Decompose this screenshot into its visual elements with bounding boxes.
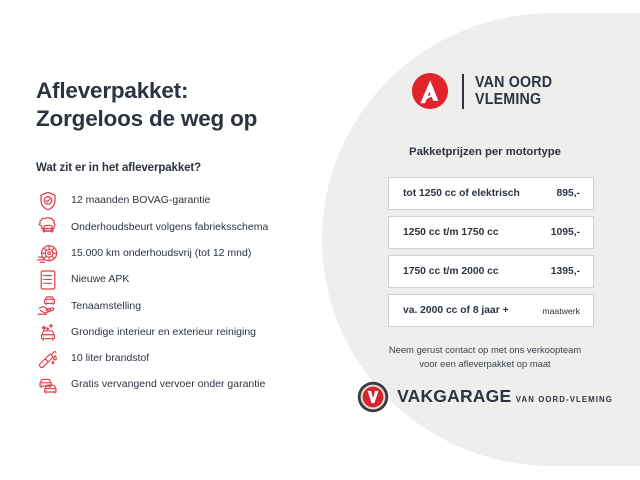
brand-name-line2: VLEMING bbox=[475, 91, 552, 108]
page-title: Afleverpakket: Zorgeloos de weg op bbox=[36, 77, 316, 133]
price-row-label: 1750 cc t/m 2000 cc bbox=[403, 266, 499, 277]
price-row-label: 1250 cc t/m 1750 cc bbox=[403, 227, 499, 238]
table-row[interactable]: va. 2000 cc of 8 jaar + maatwerk bbox=[388, 294, 594, 327]
table-row[interactable]: 1750 cc t/m 2000 cc 1395,- bbox=[388, 255, 594, 288]
price-row-label: va. 2000 cc of 8 jaar + bbox=[403, 305, 509, 316]
left-column: Afleverpakket: Zorgeloos de weg op Wat z… bbox=[0, 0, 330, 480]
vakgarage-lockup: VAKGARAGE VAN OORD-VLEMING bbox=[330, 381, 640, 413]
brand-lockup: VAN OORD VLEMING bbox=[330, 72, 640, 110]
list-item-label: Gratis vervangend vervoer onder garantie bbox=[71, 379, 265, 391]
van-oord-a-logo-icon bbox=[411, 72, 449, 110]
list-item: Onderhoudsbeurt volgens fabrieksschema bbox=[36, 214, 326, 240]
list-item: Grondige interieur en exterieur reinigin… bbox=[36, 319, 326, 345]
brand-divider bbox=[462, 74, 464, 109]
list-item: 12 maanden BOVAG-garantie bbox=[36, 188, 326, 214]
brand-name-line1: VAN OORD bbox=[475, 74, 552, 91]
poster-canvas: Afleverpakket: Zorgeloos de weg op Wat z… bbox=[0, 0, 640, 480]
list-item: 15.000 km onderhoudsvrij (tot 12 mnd) bbox=[36, 241, 326, 267]
feature-list-heading: Wat zit er in het afleverpakket? bbox=[36, 162, 201, 174]
list-item-label: 15.000 km onderhoudsvrij (tot 12 mnd) bbox=[71, 248, 251, 260]
price-row-value: 895,- bbox=[557, 188, 580, 199]
fuel-nozzle-icon bbox=[36, 347, 60, 371]
hand-car-icon bbox=[36, 294, 60, 318]
price-row-value: 1095,- bbox=[551, 227, 580, 238]
vakgarage-subname: VAN OORD-VLEMING bbox=[516, 395, 613, 404]
page-title-line1: Afleverpakket: bbox=[36, 78, 188, 103]
list-item-label: 10 liter brandstof bbox=[71, 353, 149, 365]
wheel-icon bbox=[36, 242, 60, 266]
table-row[interactable]: 1250 cc t/m 1750 cc 1095,- bbox=[388, 216, 594, 249]
list-item-label: Nieuwe APK bbox=[71, 274, 129, 286]
list-item: Gratis vervangend vervoer onder garantie bbox=[36, 372, 326, 398]
price-table: tot 1250 cc of elektrisch 895,- 1250 cc … bbox=[388, 177, 594, 333]
list-item: 10 liter brandstof bbox=[36, 346, 326, 372]
two-cars-icon bbox=[36, 373, 60, 397]
price-row-value: 1395,- bbox=[551, 266, 580, 277]
price-row-value: maatwerk bbox=[542, 306, 580, 316]
shield-check-icon bbox=[36, 189, 60, 213]
vakgarage-v-logo-icon bbox=[357, 381, 389, 413]
checklist-icon bbox=[36, 268, 60, 292]
page-title-line2: Zorgeloos de weg op bbox=[36, 105, 316, 133]
list-item-label: Onderhoudsbeurt volgens fabrieksschema bbox=[71, 222, 268, 234]
list-item-label: Tenaamstelling bbox=[71, 301, 141, 313]
car-service-icon bbox=[36, 215, 60, 239]
right-column: VAN OORD VLEMING Pakketprijzen per motor… bbox=[330, 0, 640, 480]
table-row[interactable]: tot 1250 cc of elektrisch 895,- bbox=[388, 177, 594, 210]
list-item-label: Grondige interieur en exterieur reinigin… bbox=[71, 327, 256, 339]
list-item: Nieuwe APK bbox=[36, 267, 326, 293]
contact-note: Neem gerust contact op met ons verkoopte… bbox=[335, 343, 635, 370]
contact-note-line2: voor een afleverpakket op maat bbox=[335, 357, 635, 371]
list-item: Tenaamstelling bbox=[36, 293, 326, 319]
feature-list: 12 maanden BOVAG-garantie Onderhoudsbeur… bbox=[36, 188, 326, 398]
vakgarage-name: VAKGARAGE bbox=[397, 386, 511, 406]
list-item-label: 12 maanden BOVAG-garantie bbox=[71, 195, 210, 207]
price-row-label: tot 1250 cc of elektrisch bbox=[403, 188, 520, 199]
car-clean-icon bbox=[36, 321, 60, 345]
contact-note-line1: Neem gerust contact op met ons verkoopte… bbox=[335, 343, 635, 357]
vakgarage-wordmark: VAKGARAGE VAN OORD-VLEMING bbox=[397, 388, 613, 407]
price-table-title: Pakketprijzen per motortype bbox=[330, 146, 640, 158]
brand-name: VAN OORD VLEMING bbox=[475, 74, 552, 109]
